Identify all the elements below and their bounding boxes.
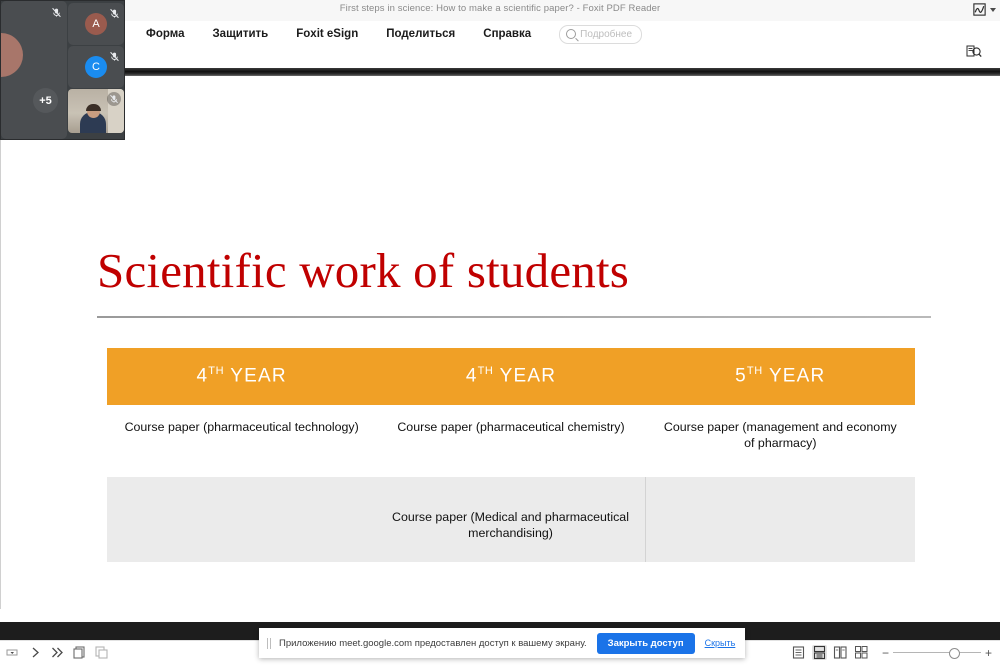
- share-message: Приложению meet.google.com предоставлен …: [279, 638, 587, 649]
- header-year-number: 4: [466, 366, 478, 387]
- avatar: [1, 33, 23, 77]
- header-year-number: 5: [735, 366, 747, 387]
- mic-off-icon: [107, 6, 121, 20]
- table-header-row: 4TH YEAR 4TH YEAR 5TH YEAR: [107, 348, 915, 405]
- avatar: C: [85, 56, 107, 78]
- meet-self-video-tile[interactable]: [68, 89, 124, 133]
- google-meet-overlay[interactable]: +5 A C: [0, 0, 125, 140]
- meet-participant-tile[interactable]: A: [68, 3, 124, 45]
- window-title: First steps in science: How to make a sc…: [0, 3, 1000, 14]
- table-cell: Course paper (management and economy of …: [646, 405, 915, 477]
- zoom-handle[interactable]: [949, 648, 960, 659]
- title-divider: [97, 316, 931, 318]
- continuous-scroll-view-icon[interactable]: [812, 645, 827, 660]
- meet-participant-tile[interactable]: C: [68, 46, 124, 88]
- last-page-icon[interactable]: [50, 645, 65, 660]
- hide-notification-link[interactable]: Скрыть: [705, 638, 736, 648]
- tell-me-placeholder: Подробнее: [580, 29, 632, 40]
- header-year-suffix: TH: [478, 365, 494, 377]
- mic-off-icon: [107, 92, 121, 106]
- tell-me-search-box[interactable]: Подробнее: [559, 25, 642, 44]
- page-title: Scientific work of students: [97, 242, 629, 299]
- search-icon: [566, 29, 576, 39]
- meet-participant-strip: A C: [68, 1, 124, 139]
- drag-handle-icon[interactable]: [267, 638, 271, 649]
- pdf-page: Scientific work of students 4TH YEAR 4TH…: [1, 76, 1000, 609]
- zoom-in-label[interactable]: +: [981, 648, 996, 658]
- menu-item-list: Форма Защитить Foxit eSign Поделиться Сп…: [132, 21, 642, 47]
- title-bar: First steps in science: How to make a sc…: [0, 0, 1000, 21]
- screen-share-notification: Приложению meet.google.com предоставлен …: [259, 628, 745, 658]
- table-header-cell-year1: 4TH YEAR: [107, 365, 376, 387]
- table-header-cell-year3: 5TH YEAR: [646, 365, 915, 387]
- zoom-slider[interactable]: − +: [878, 648, 996, 658]
- menu-item-foxit-esign[interactable]: Foxit eSign: [282, 21, 372, 47]
- zoom-out-label[interactable]: −: [878, 648, 893, 658]
- status-bar-right-tools: − +: [791, 645, 996, 660]
- table-row: Course paper (pharmaceutical technology)…: [107, 405, 915, 477]
- signature-icon[interactable]: [972, 2, 987, 17]
- header-year-unit: YEAR: [500, 366, 557, 387]
- table-cell: Course paper (pharmaceutical technology): [107, 405, 376, 477]
- menu-item-protect[interactable]: Защитить: [198, 21, 282, 47]
- video-person-hair: [86, 104, 101, 111]
- two-page-continuous-view-icon[interactable]: [854, 645, 869, 660]
- copy-pages-icon[interactable]: [72, 645, 87, 660]
- table-row: Course paper (Medical and pharmaceutical…: [107, 477, 915, 562]
- table-header-cell-year2: 4TH YEAR: [376, 365, 645, 387]
- document-viewport[interactable]: Scientific work of students 4TH YEAR 4TH…: [0, 76, 1000, 609]
- scientific-work-table: 4TH YEAR 4TH YEAR 5TH YEAR Course paper …: [107, 348, 915, 562]
- foxit-pdf-reader-window: First steps in science: How to make a sc…: [0, 0, 1000, 666]
- page-dropdown-icon[interactable]: [6, 645, 21, 660]
- avatar: A: [85, 13, 107, 35]
- mic-off-icon: [49, 5, 63, 19]
- zoom-track[interactable]: [893, 652, 981, 653]
- next-page-icon[interactable]: [28, 645, 43, 660]
- overflow-participants-badge: +5: [33, 88, 58, 113]
- header-year-suffix: TH: [208, 365, 224, 377]
- header-year-number: 4: [196, 366, 208, 387]
- two-page-view-icon[interactable]: [833, 645, 848, 660]
- header-year-unit: YEAR: [769, 366, 826, 387]
- table-cell: Course paper (pharmaceutical chemistry): [376, 405, 645, 477]
- find-text-icon[interactable]: [966, 45, 982, 59]
- chevron-down-icon[interactable]: [990, 8, 996, 12]
- toolbar-separator: [0, 68, 1000, 76]
- table-cell: [646, 477, 915, 562]
- mic-off-icon: [107, 49, 121, 63]
- menu-item-share[interactable]: Поделиться: [372, 21, 469, 47]
- header-year-unit: YEAR: [230, 366, 287, 387]
- stop-sharing-button[interactable]: Закрыть доступ: [597, 633, 695, 654]
- title-bar-right-controls: [972, 2, 996, 17]
- meet-main-tile[interactable]: +5: [1, 1, 67, 139]
- menu-bar: Форма Защитить Foxit eSign Поделиться Сп…: [0, 21, 1000, 47]
- table-cell: Course paper (Medical and pharmaceutical…: [376, 477, 646, 562]
- table-cell: [107, 477, 376, 562]
- single-page-view-icon[interactable]: [791, 645, 806, 660]
- duplicate-pages-icon[interactable]: [94, 645, 109, 660]
- header-year-suffix: TH: [747, 365, 763, 377]
- menu-item-help[interactable]: Справка: [469, 21, 545, 47]
- status-bar-left-tools: [6, 645, 109, 660]
- menu-item-form[interactable]: Форма: [132, 21, 198, 47]
